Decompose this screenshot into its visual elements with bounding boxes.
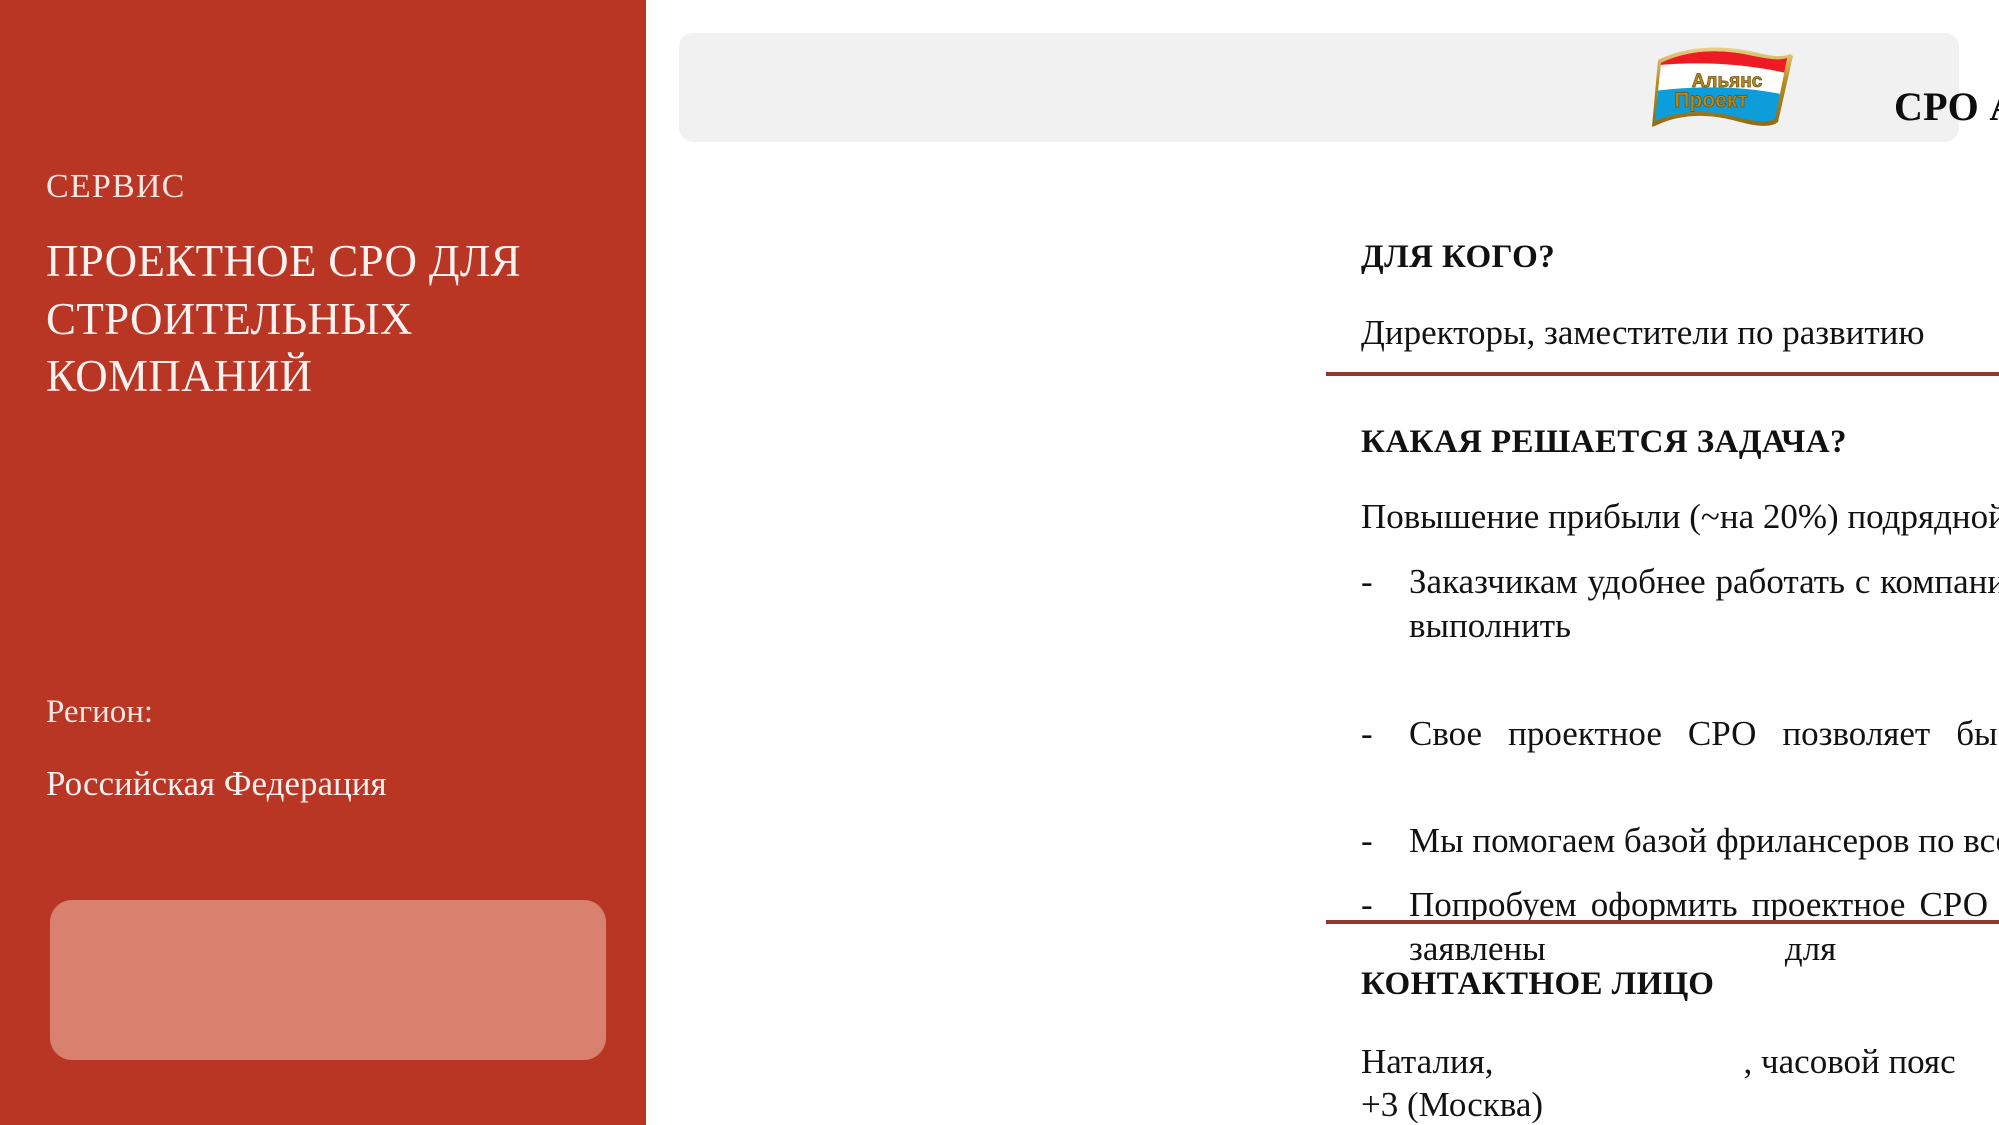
- section-audience-heading: ДЛЯ КОГО?: [1361, 238, 1925, 278]
- page-title: ПРОЕКТНОЕ СРО ДЛЯ СТРОИТЕЛЬНЫХ КОМПАНИЙ: [46, 233, 626, 406]
- list-item: - Заказчикам удобнее работать с компания…: [1361, 560, 1999, 691]
- list-item-text: Свое проектное СРО позволяет быстро внос…: [1409, 712, 1999, 800]
- section-contact-heading: КОНТАКТНОЕ ЛИЦО: [1361, 965, 1999, 1005]
- service-slide: СЕРВИС ПРОЕКТНОЕ СРО ДЛЯ СТРОИТЕЛЬНЫХ КО…: [0, 0, 1999, 1125]
- sidebar-redacted-block: [50, 900, 606, 1060]
- bullet-marker: -: [1361, 712, 1409, 800]
- list-item: - Мы помогаем базой фрилансеров по всем …: [1361, 819, 1999, 863]
- bullet-marker: -: [1361, 560, 1409, 691]
- section-task-body: Повышение прибыли (~на 20%) подрядной ко…: [1361, 495, 1999, 539]
- list-item: - Свое проектное СРО позволяет быстро вн…: [1361, 712, 1999, 800]
- list-item-text: Заказчикам удобнее работать с компаниями…: [1409, 560, 1999, 691]
- section-task: КАКАЯ РЕШАЕТСЯ ЗАДАЧА? Повышение прибыли…: [1361, 423, 1999, 1034]
- section-divider: [1326, 920, 1999, 924]
- region-value: Российская Федерация: [46, 763, 387, 805]
- section-task-heading: КАКАЯ РЕШАЕТСЯ ЗАДАЧА?: [1361, 423, 1999, 463]
- section-divider: [1326, 372, 1999, 376]
- sidebar-eyebrow: СЕРВИС: [46, 168, 185, 205]
- section-audience-body: Директоры, заместители по развитию: [1361, 311, 1925, 355]
- sidebar-panel: СЕРВИС ПРОЕКТНОЕ СРО ДЛЯ СТРОИТЕЛЬНЫХ КО…: [0, 0, 646, 1125]
- section-contact-body: Наталия,, часовой пояс +3 (Москва): [1361, 1040, 1999, 1125]
- bullet-marker: -: [1361, 819, 1409, 863]
- svg-text:Проект: Проект: [1674, 89, 1747, 112]
- section-audience: ДЛЯ КОГО? Директоры, заместители по разв…: [1361, 238, 1925, 354]
- contact-name: Наталия,: [1361, 1042, 1494, 1081]
- content-area: Альянс Проект СРО Альянс-проект ДЛЯ КОГО…: [646, 0, 1999, 1125]
- region-label: Регион:: [46, 693, 153, 733]
- section-contact: КОНТАКТНОЕ ЛИЦО Наталия,, часовой пояс +…: [1361, 965, 1999, 1125]
- alliance-proekt-flag-logo: Альянс Проект: [1641, 47, 1801, 129]
- contact-redacted-block: [1494, 1043, 1744, 1073]
- list-item-text: Мы помогаем базой фрилансеров по всем ра…: [1409, 819, 1999, 863]
- organization-name: СРО Альянс-проект: [1894, 83, 1999, 130]
- organization-header: Альянс Проект СРО Альянс-проект: [679, 33, 1959, 142]
- task-bullet-list: - Заказчикам удобнее работать с компания…: [1361, 560, 1999, 1014]
